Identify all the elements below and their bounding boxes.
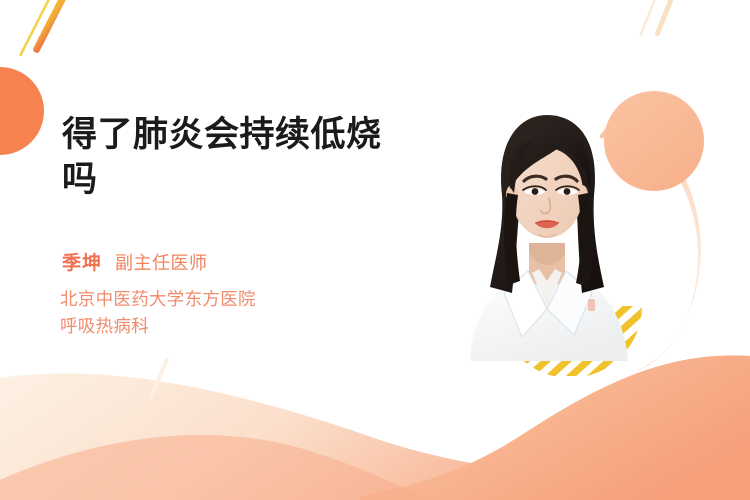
doctor-department: 呼吸热病科	[60, 313, 256, 340]
doctor-job-title: 副主任医师	[115, 249, 208, 275]
doctor-identity: 季坤 副主任医师	[62, 248, 208, 275]
doctor-hospital: 北京中医药大学东方医院	[60, 286, 256, 313]
page-title: 得了肺炎会持续低烧吗	[62, 112, 412, 202]
doctor-affiliation: 北京中医药大学东方医院 呼吸热病科	[60, 286, 256, 340]
doctor-name: 季坤	[62, 248, 102, 275]
content-layer: 得了肺炎会持续低烧吗 季坤 副主任医师 北京中医药大学东方医院 呼吸热病科	[0, 0, 750, 500]
headline-block: 得了肺炎会持续低烧吗	[62, 112, 412, 202]
video-cover-card: 得了肺炎会持续低烧吗 季坤 副主任医师 北京中医药大学东方医院 呼吸热病科	[0, 0, 750, 500]
